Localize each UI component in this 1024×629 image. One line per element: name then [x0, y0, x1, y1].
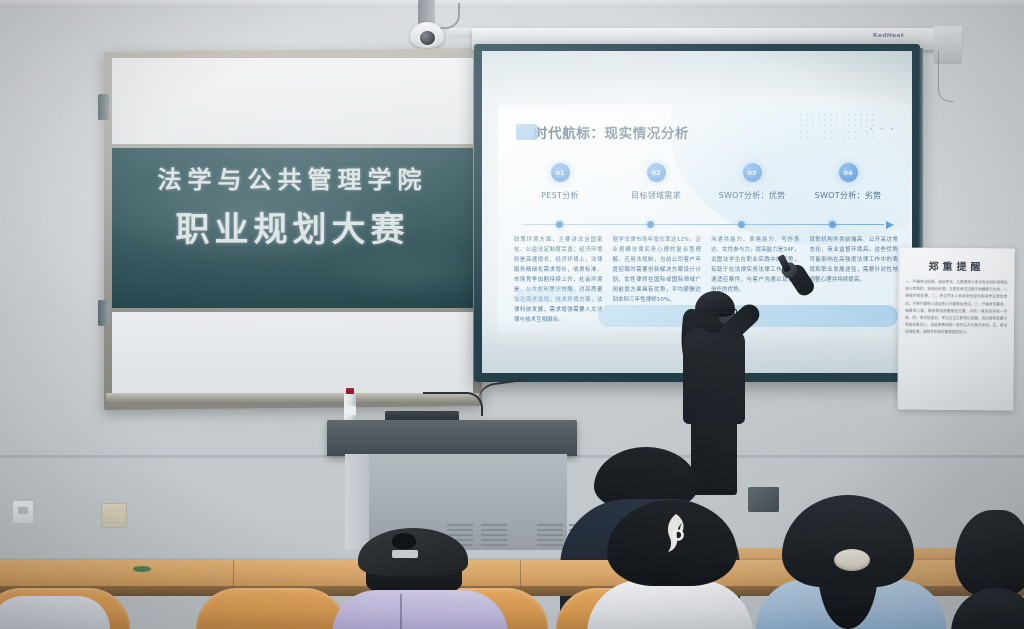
chalkboard-surface: 法学与公共管理学院 职业规划大赛	[112, 148, 473, 308]
camera-wire	[440, 3, 460, 29]
student-purple-jacket-black-cap	[330, 528, 515, 629]
light-switch[interactable]	[12, 500, 34, 524]
step-badge-4: 04	[839, 163, 858, 182]
cap-back-opening	[392, 533, 416, 549]
hair-clip-ornament-icon	[659, 512, 693, 554]
slide-timeline	[522, 221, 894, 229]
step-badge-2: 02	[647, 163, 666, 182]
student-white-hoodie-hair-clip	[585, 500, 755, 629]
student-hair	[782, 495, 914, 587]
presenter-torso	[683, 328, 745, 424]
board-panel-upper	[112, 58, 473, 144]
student-body	[951, 588, 1024, 629]
slide-title-chip-icon	[516, 124, 538, 140]
wall-outlet[interactable]	[101, 503, 127, 528]
notice-body-text: 一、严格考试纪律，诚信考试。凡是携带与考试有关材料或物品进入考场的，按违纪处理；…	[905, 279, 1007, 337]
slide-title: 时代航标：现实情况分析	[534, 122, 689, 142]
timeline-node-2	[647, 221, 654, 228]
desk-seam-2	[520, 560, 521, 588]
timeline-node-1	[556, 221, 563, 228]
bottle-label	[344, 406, 356, 415]
projection-top-falloff	[482, 51, 912, 99]
step-label-1: PEST分析	[541, 190, 579, 201]
desk-sticker	[133, 566, 151, 572]
board-hinge-top	[98, 94, 109, 120]
step-badge-3: 03	[743, 163, 762, 182]
step-label-4: SWOT分析：劣势	[815, 190, 882, 201]
timeline-node-4	[829, 221, 836, 228]
projector-brand-label: RedHeat	[873, 32, 904, 38]
chair-2	[196, 588, 346, 629]
screen-pull-cord	[938, 50, 954, 102]
lectern-top-surface	[327, 420, 577, 456]
slide-step-2: 02 目标领域需求	[608, 163, 704, 213]
slide-accent-pill-small	[516, 289, 636, 303]
cap-adjuster-strap	[392, 550, 418, 558]
water-bottle	[343, 388, 357, 422]
student-body	[332, 590, 508, 629]
student-partial-left-edge	[0, 596, 110, 629]
chalk-text-line-2: 职业规划大赛	[112, 202, 473, 251]
slide-step-3: 03 SWOT分析：优势	[704, 163, 800, 213]
student-body	[587, 580, 753, 629]
step-badge-1: 01	[551, 163, 570, 182]
poster-edge-shadow	[897, 247, 900, 410]
board-hinge-bottom	[98, 300, 109, 326]
security-camera-icon	[404, 0, 464, 54]
camera-lens-icon	[418, 29, 437, 47]
step-label-3: SWOT分析：优势	[719, 190, 786, 201]
timeline-arrow-icon	[886, 221, 894, 229]
exam-notice-poster: 郑重提醒 一、严格考试纪律，诚信考试。凡是携带与考试有关材料或物品进入考场的，按…	[897, 247, 1014, 410]
student-hair	[955, 510, 1024, 596]
notice-title: 郑重提醒	[905, 258, 1007, 274]
board-panel-lower	[112, 312, 473, 396]
ceiling-trim	[0, 0, 1024, 8]
slide-step-row: 01 PEST分析 02 目标领域需求 03 SWOT分析：优势 04	[512, 163, 896, 213]
student-blue-jacket-ponytail	[756, 495, 951, 629]
slide-dot-grid-decor	[798, 111, 876, 141]
step-label-2: 目标领域需求	[631, 190, 681, 201]
slide-step-4: 04 SWOT分析：劣势	[800, 163, 896, 213]
chalkboard-assembly: 法学与公共管理学院 职业规划大赛	[104, 50, 482, 408]
student-body	[0, 596, 110, 629]
hair-scrunchie	[834, 549, 870, 571]
chalk-text-line-1: 法学与公共管理学院	[112, 160, 473, 195]
bottle-cap	[346, 388, 354, 394]
student-jacket-seam	[400, 594, 402, 629]
timeline-node-3	[738, 221, 745, 228]
slide-step-1: 01 PEST分析	[512, 163, 608, 213]
slide-corner-dots: • • •	[869, 125, 896, 133]
desk-seam-1	[233, 560, 234, 588]
slide-column-1: 政策环境方面，主要讲法治国家化、公益法定制度完善；经济环境则是高速增长、经济环境…	[514, 235, 603, 327]
classroom-photo: 法学与公共管理学院 职业规划大赛 RedHeat • • • 时代航	[0, 0, 1024, 629]
student-dark-jacket-right-edge	[955, 510, 1024, 629]
slide-title-bar: 时代航标：现实情况分析	[516, 122, 689, 142]
